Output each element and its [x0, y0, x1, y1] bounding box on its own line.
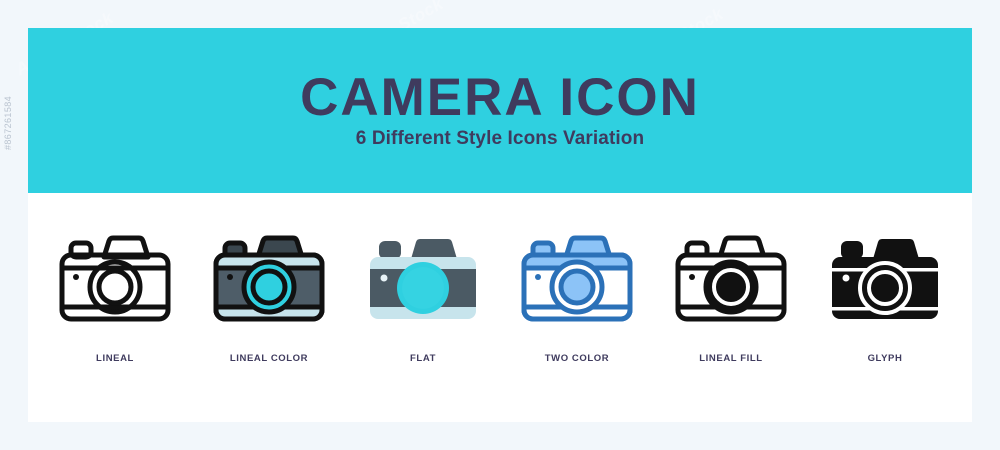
camera-icon-lineal[interactable] [57, 231, 173, 327]
icon-cell-two-color[interactable]: TWO COLOR [503, 231, 651, 364]
icon-label: FLAT [410, 353, 436, 364]
icon-cell-lineal[interactable]: LINEAL [41, 231, 189, 364]
camera-icon-two-color[interactable] [519, 231, 635, 327]
camera-icon-glyph[interactable] [827, 231, 943, 327]
poster-card: CAMERA ICON 6 Different Style Icons Vari… [28, 28, 972, 422]
icon-label: GLYPH [868, 353, 903, 364]
icon-cell-lineal-fill[interactable]: LINEAL FILL [657, 231, 805, 364]
asset-id-label: #867261584 [3, 96, 13, 150]
icon-gallery: LINEAL LINEAL COLOR [28, 193, 972, 422]
poster-header: CAMERA ICON 6 Different Style Icons Vari… [28, 28, 972, 193]
icon-cell-flat[interactable]: FLAT [349, 231, 497, 364]
icon-label: LINEAL FILL [699, 353, 762, 364]
camera-icon-lineal-color[interactable] [211, 231, 327, 327]
icon-cell-lineal-color[interactable]: LINEAL COLOR [195, 231, 343, 364]
camera-icon-flat[interactable] [365, 231, 481, 327]
icon-cell-glyph[interactable]: GLYPH [811, 231, 959, 364]
icon-label: LINEAL COLOR [230, 353, 308, 364]
icon-label: LINEAL [96, 353, 134, 364]
page-subtitle: 6 Different Style Icons Variation [356, 128, 644, 150]
icon-label: TWO COLOR [545, 353, 610, 364]
camera-icon-lineal-fill[interactable] [673, 231, 789, 327]
page-title: CAMERA ICON [300, 71, 700, 124]
